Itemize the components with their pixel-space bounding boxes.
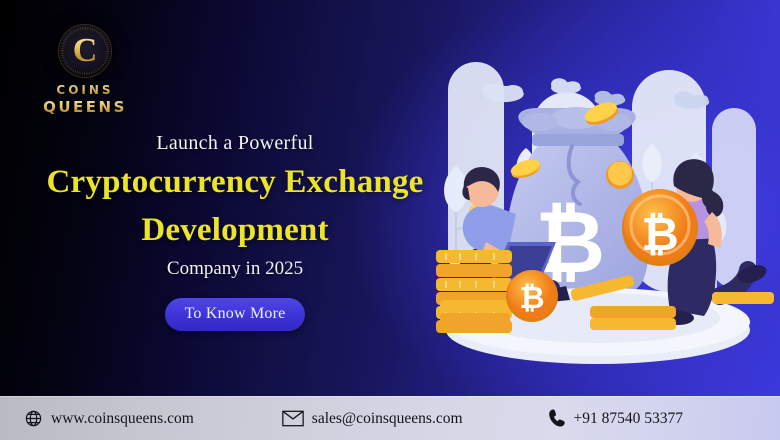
footer-email-label: sales@coinsqueens.com xyxy=(312,410,463,428)
footer-email[interactable]: sales@coinsqueens.com xyxy=(282,410,463,428)
footer-phone[interactable]: +91 87540 53377 xyxy=(549,409,684,428)
phone-handset-icon xyxy=(549,409,566,428)
footer-website-label: www.coinsqueens.com xyxy=(51,410,194,428)
hero-eyebrow: Launch a Powerful xyxy=(0,132,470,155)
brand-logo[interactable]: C COINS QUEENS xyxy=(30,25,140,117)
crypto-exchange-banner: C COINS QUEENS Launch a Powerful Cryptoc… xyxy=(0,0,780,440)
footer-website[interactable]: www.coinsqueens.com xyxy=(24,409,194,428)
svg-text:₿: ₿ xyxy=(641,207,679,261)
contact-footer-bar: www.coinsqueens.com sales@coinsqueens.co… xyxy=(0,396,780,440)
logo-wordmark-line1: COINS xyxy=(30,83,140,98)
to-know-more-button[interactable]: To Know More xyxy=(165,298,306,331)
crypto-money-bag-illustration: ₿ xyxy=(420,0,780,390)
cta-wrapper: To Know More xyxy=(0,298,470,331)
coin-c-monogram-icon: C xyxy=(59,25,111,77)
svg-text:₿: ₿ xyxy=(519,280,544,316)
globe-icon xyxy=(24,409,43,428)
footer-phone-label: +91 87540 53377 xyxy=(574,410,684,428)
hero-headline-line1: Cryptocurrency Exchange xyxy=(0,161,470,203)
hero-copy: Launch a Powerful Cryptocurrency Exchang… xyxy=(0,132,470,331)
logo-letter: C xyxy=(73,34,98,68)
envelope-icon xyxy=(282,410,304,427)
hero-headline-line2: Development xyxy=(0,209,470,251)
logo-wordmark-line2: QUEENS xyxy=(30,98,140,117)
bitcoin-coin-small: ₿ xyxy=(506,270,558,322)
hero-subline: Company in 2025 xyxy=(0,258,470,280)
